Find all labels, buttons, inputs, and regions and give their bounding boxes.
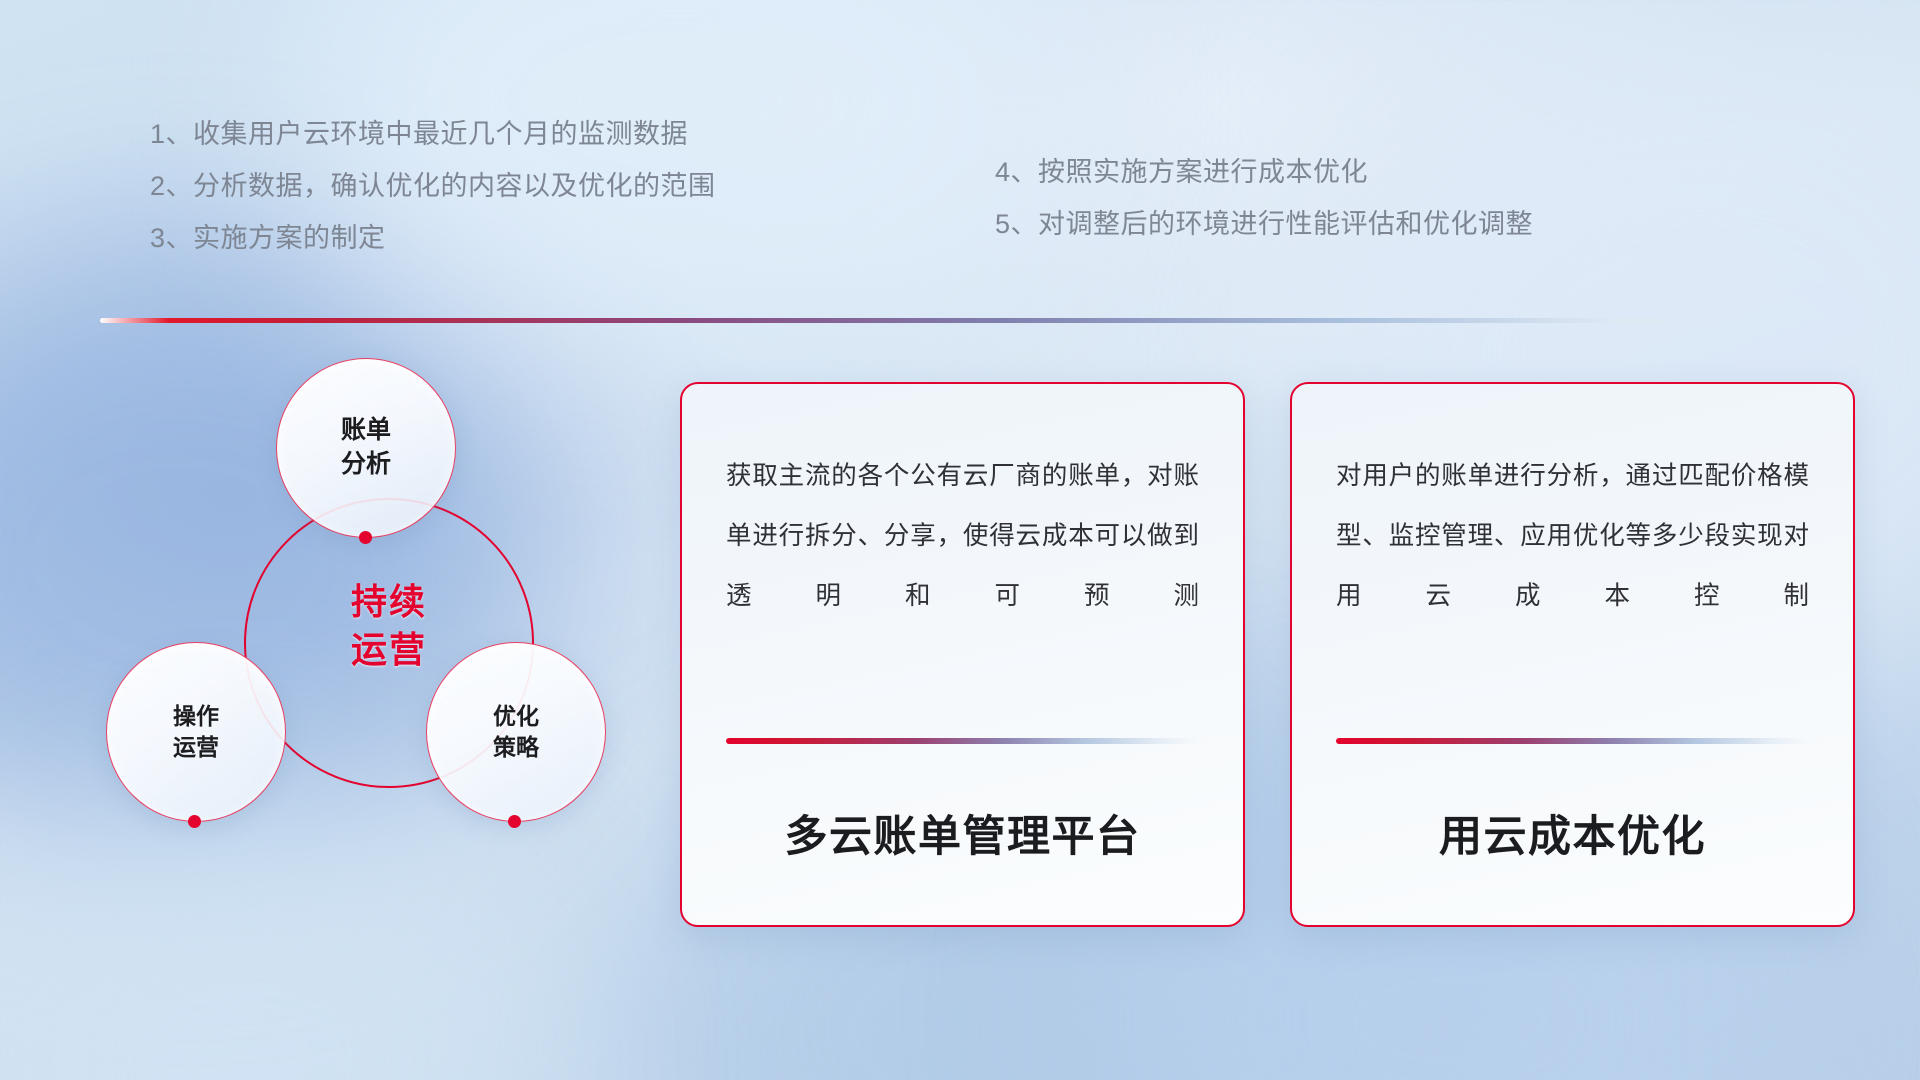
venn-center-line-1: 持续	[244, 578, 534, 626]
step-item-2: 2、分析数据，确认优化的内容以及优化的范围	[150, 160, 716, 212]
steps-left-column: 1、收集用户云环境中最近几个月的监测数据 2、分析数据，确认优化的内容以及优化的…	[150, 108, 716, 264]
step-item-1: 1、收集用户云环境中最近几个月的监测数据	[150, 108, 716, 160]
venn-bubble-label-line-1: 账单	[341, 414, 391, 448]
venn-bubble-optimization-strategy[interactable]: 优化 策略	[426, 642, 606, 822]
info-card-body: 获取主流的各个公有云厂商的账单，对账单进行拆分、分享，使得云成本可以做到透明和可…	[726, 446, 1199, 696]
steps-right-column: 4、按照实施方案进行成本优化 5、对调整后的环境进行性能评估和优化调整	[995, 146, 1533, 250]
venn-bubble-label-line-2: 运营	[173, 732, 219, 763]
venn-diagram: 持续 运营 账单 分析 操作 运营 优化 策略	[96, 350, 656, 950]
info-card-multicloud-billing[interactable]: 获取主流的各个公有云厂商的账单，对账单进行拆分、分享，使得云成本可以做到透明和可…	[680, 382, 1245, 927]
venn-node-dot-top	[359, 531, 372, 544]
info-card-title: 用云成本优化	[1336, 802, 1809, 864]
venn-bubble-label-line-1: 优化	[493, 701, 539, 732]
step-item-5: 5、对调整后的环境进行性能评估和优化调整	[995, 198, 1533, 250]
process-steps: 1、收集用户云环境中最近几个月的监测数据 2、分析数据，确认优化的内容以及优化的…	[0, 108, 1920, 263]
venn-bubble-label-line-2: 分析	[341, 448, 391, 482]
step-item-4: 4、按照实施方案进行成本优化	[995, 146, 1533, 198]
info-card-title: 多云账单管理平台	[726, 802, 1199, 864]
venn-bubble-billing-analysis[interactable]: 账单 分析	[276, 358, 456, 538]
venn-node-dot-right	[508, 815, 521, 828]
info-card-divider	[726, 738, 1199, 744]
info-card-cost-optimization[interactable]: 对用户的账单进行分析，通过匹配价格模型、监控管理、应用优化等多少段实现对用云成本…	[1290, 382, 1855, 927]
section-divider-rule	[100, 318, 1825, 323]
info-card-divider	[1336, 738, 1809, 744]
venn-bubble-label-line-1: 操作	[173, 701, 219, 732]
step-item-3: 3、实施方案的制定	[150, 212, 716, 264]
info-card-body: 对用户的账单进行分析，通过匹配价格模型、监控管理、应用优化等多少段实现对用云成本…	[1336, 446, 1809, 696]
venn-bubble-label-line-2: 策略	[493, 732, 539, 763]
venn-node-dot-left	[188, 815, 201, 828]
venn-bubble-operations[interactable]: 操作 运营	[106, 642, 286, 822]
